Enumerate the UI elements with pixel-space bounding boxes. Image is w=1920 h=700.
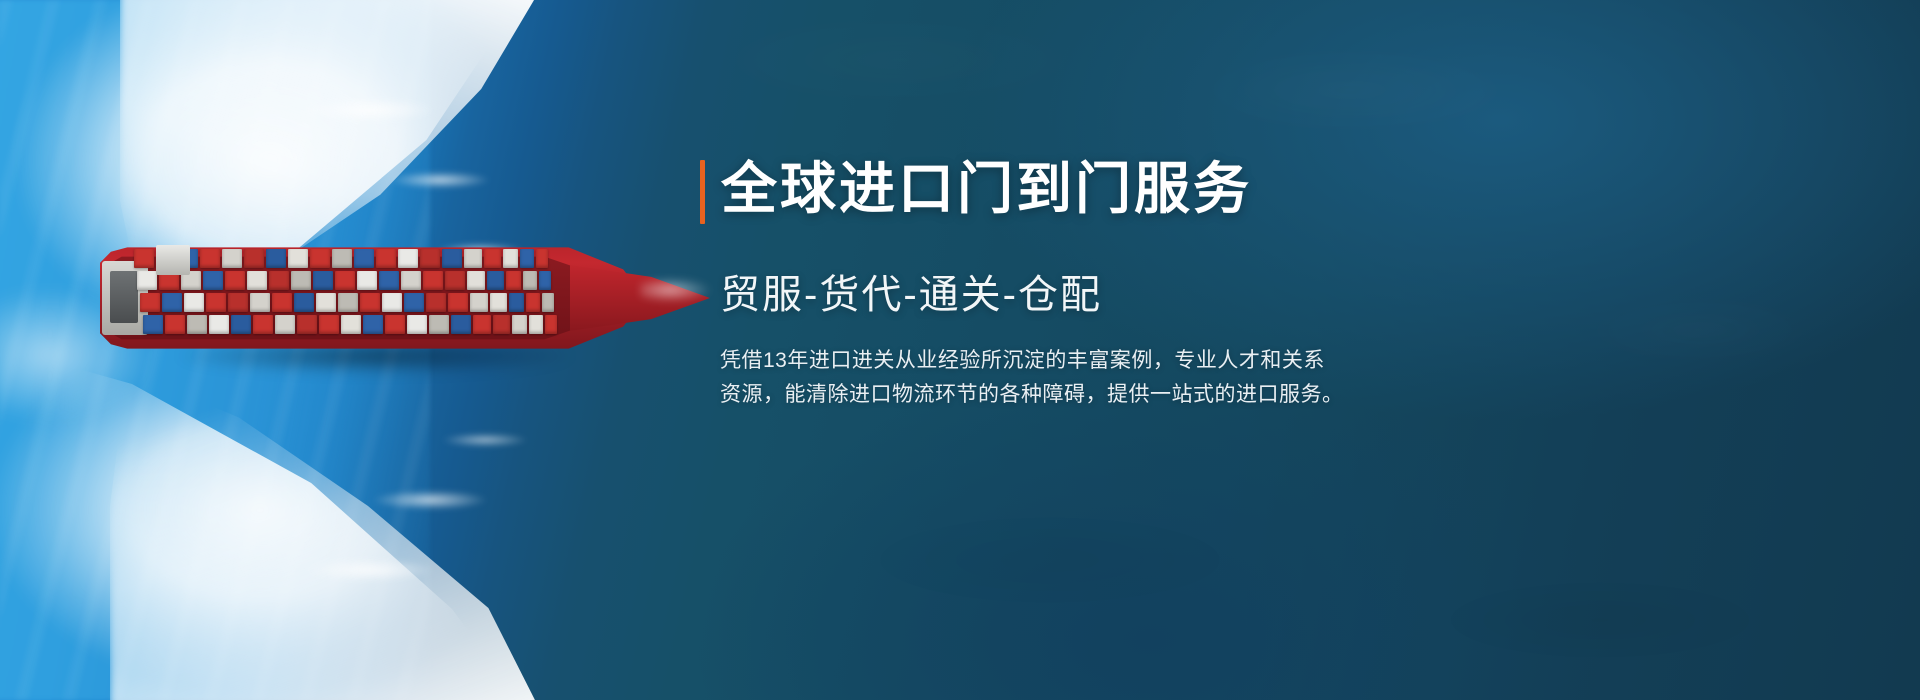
shipping-container	[228, 293, 248, 312]
shipping-container	[291, 271, 311, 290]
shipping-container	[187, 315, 207, 334]
shipping-container	[445, 271, 465, 290]
shipping-container	[316, 293, 336, 312]
shipping-container	[313, 271, 333, 290]
shipping-container	[269, 271, 289, 290]
shipping-container	[363, 315, 383, 334]
shipping-container	[272, 293, 292, 312]
shipping-container	[385, 315, 405, 334]
shipping-container	[222, 249, 242, 268]
shipping-container	[520, 249, 534, 268]
shipping-container	[200, 249, 220, 268]
shipping-container	[503, 249, 518, 268]
shipping-container	[506, 271, 521, 290]
title-row: 全球进口门到门服务	[700, 160, 1460, 224]
shipping-container	[467, 271, 485, 290]
shipping-container	[266, 249, 286, 268]
shipping-container	[407, 315, 427, 334]
shipping-container	[493, 315, 510, 334]
hero-banner: 全球进口门到门服务 贸服-货代-通关-仓配 凭借13年进口进关从业经验所沉淀的丰…	[0, 0, 1920, 700]
shipping-container	[426, 293, 446, 312]
shipping-container	[297, 315, 317, 334]
shipping-container	[354, 249, 374, 268]
hero-subtitle: 贸服-货代-通关-仓配	[720, 262, 1460, 320]
shipping-container	[275, 315, 295, 334]
shipping-container	[484, 249, 501, 268]
shipping-container	[360, 293, 380, 312]
shipping-container	[143, 315, 163, 334]
shipping-container	[294, 293, 314, 312]
shipping-container	[382, 293, 402, 312]
container-row	[143, 315, 595, 335]
shipping-container	[512, 315, 527, 334]
shipping-container	[490, 293, 507, 312]
shipping-container	[335, 271, 355, 290]
shipping-container	[545, 315, 557, 334]
shipping-container	[529, 315, 543, 334]
accent-bar-icon	[700, 160, 705, 224]
shipping-container	[539, 271, 551, 290]
container-ship	[100, 243, 645, 353]
shipping-container	[423, 271, 443, 290]
shipping-container	[184, 293, 204, 312]
shipping-container	[338, 293, 358, 312]
shipping-container	[209, 315, 229, 334]
shipping-container	[451, 315, 471, 334]
container-stack	[134, 249, 604, 347]
shipping-container	[140, 293, 160, 312]
shipping-container	[225, 271, 245, 290]
shipping-container	[464, 249, 482, 268]
container-row	[140, 293, 598, 313]
shipping-container	[341, 315, 361, 334]
shipping-container	[536, 249, 548, 268]
shipping-container	[376, 249, 396, 268]
description-line-2: 资源，能清除进口物流环节的各种障碍，提供一站式的进口服务。	[720, 378, 1420, 412]
shipping-container	[487, 271, 504, 290]
shipping-container	[250, 293, 270, 312]
shipping-container	[542, 293, 554, 312]
shipping-container	[523, 271, 537, 290]
shipping-container	[398, 249, 418, 268]
shipping-container	[509, 293, 524, 312]
shipping-container	[288, 249, 308, 268]
shipping-container	[203, 271, 223, 290]
shipping-container	[404, 293, 424, 312]
description-line-1: 凭借13年进口进关从业经验所沉淀的丰富案例，专业人才和关系	[720, 344, 1420, 378]
shipping-container	[526, 293, 540, 312]
ship-bridge	[156, 245, 190, 275]
shipping-container	[448, 293, 468, 312]
shipping-container	[162, 293, 182, 312]
container-row	[137, 271, 601, 291]
shipping-container	[332, 249, 352, 268]
shipping-container	[442, 249, 462, 268]
container-row	[134, 249, 604, 269]
shipping-container	[401, 271, 421, 290]
shipping-container	[247, 271, 267, 290]
shipping-container	[429, 315, 449, 334]
shipping-container	[470, 293, 488, 312]
shipping-container	[206, 293, 226, 312]
shipping-container	[379, 271, 399, 290]
shipping-container	[310, 249, 330, 268]
hero-description: 凭借13年进口进关从业经验所沉淀的丰富案例，专业人才和关系 资源，能清除进口物流…	[720, 344, 1420, 412]
shipping-container	[231, 315, 251, 334]
shipping-container	[473, 315, 491, 334]
shipping-container	[420, 249, 440, 268]
shipping-container	[137, 271, 157, 290]
shipping-container	[244, 249, 264, 268]
page-title: 全球进口门到门服务	[721, 160, 1252, 224]
hero-text-block: 全球进口门到门服务 贸服-货代-通关-仓配 凭借13年进口进关从业经验所沉淀的丰…	[700, 160, 1460, 412]
shipping-container	[357, 271, 377, 290]
shipping-container	[253, 315, 273, 334]
shipping-container	[165, 315, 185, 334]
shipping-container	[134, 249, 154, 268]
shipping-container	[319, 315, 339, 334]
